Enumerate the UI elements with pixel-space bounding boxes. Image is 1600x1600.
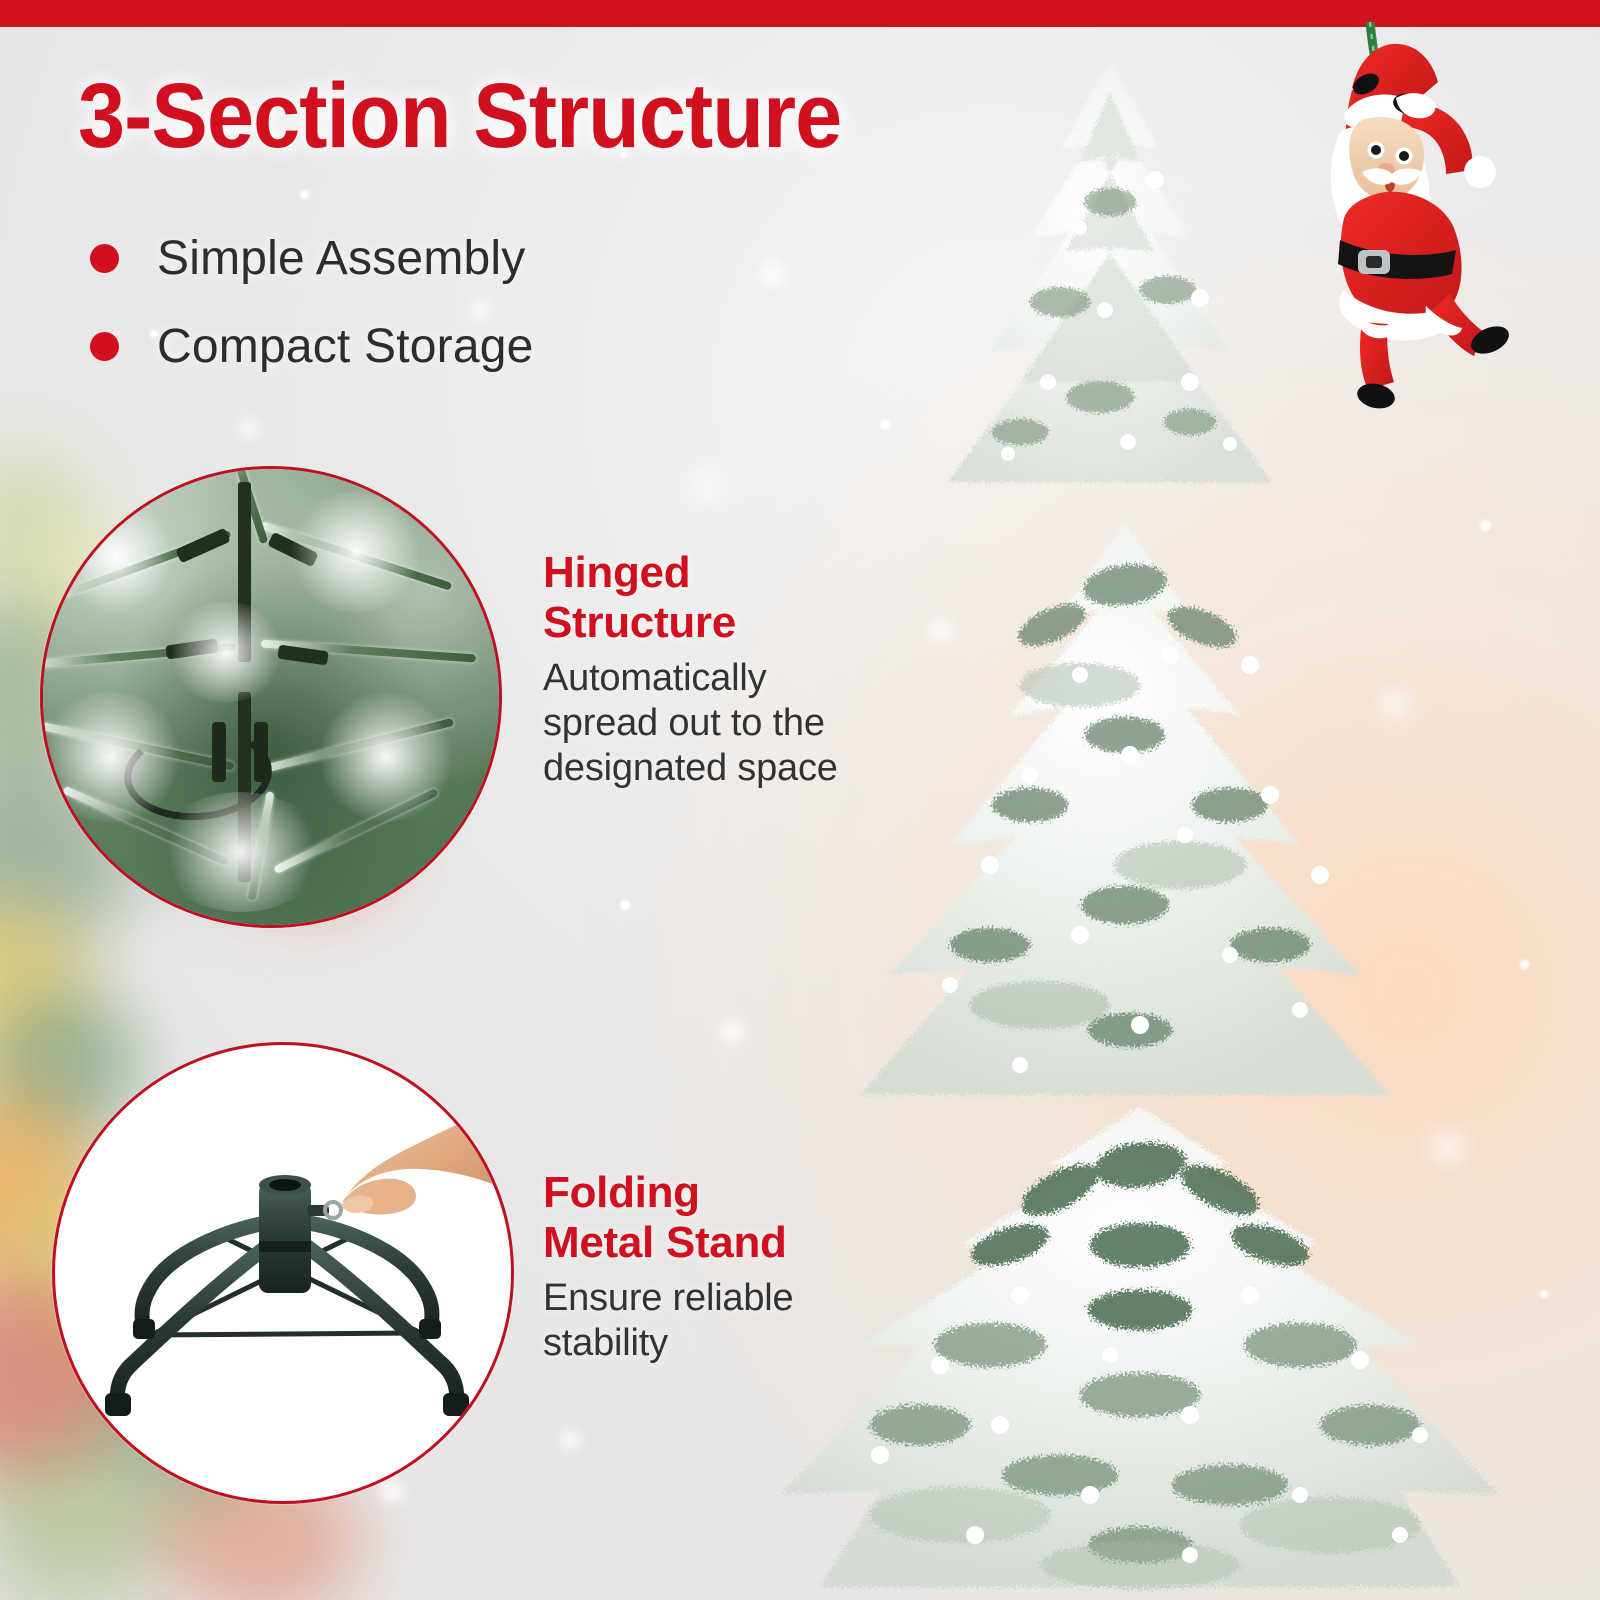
feature-bullet-list: Simple Assembly Compact Storage <box>90 214 790 390</box>
page-title: 3-Section Structure <box>78 66 952 166</box>
tree-section-top <box>900 52 1320 522</box>
tree-section-middle <box>830 505 1420 1125</box>
folding-metal-stand-text: Folding Metal Stand Ensure reliable stab… <box>543 1168 903 1366</box>
bullet-label: Simple Assembly <box>157 231 525 286</box>
feature-title: Folding Metal Stand <box>543 1168 903 1268</box>
bullet-label: Compact Storage <box>157 319 534 374</box>
hinged-structure-text: Hinged Structure Automatically spread ou… <box>543 548 893 791</box>
bullet-dot-icon <box>90 332 119 361</box>
list-item: Compact Storage <box>90 302 790 390</box>
bullet-dot-icon <box>90 244 119 273</box>
santa-climbing-rope-icon <box>1300 22 1530 422</box>
feature-description: Automatically spread out to the designat… <box>543 656 893 791</box>
feature-description: Ensure reliable stability <box>543 1276 903 1366</box>
hinged-structure-photo <box>40 466 502 928</box>
flocked-branch-closeup <box>40 466 502 928</box>
feature-title: Hinged Structure <box>543 548 893 648</box>
list-item: Simple Assembly <box>90 214 790 302</box>
hand-icon <box>347 1097 514 1195</box>
product-feature-banner: 3-Section Structure Simple Assembly Comp… <box>0 0 1600 1600</box>
tree-stand-illustration <box>55 1045 514 1504</box>
folding-metal-stand-photo <box>52 1042 514 1504</box>
